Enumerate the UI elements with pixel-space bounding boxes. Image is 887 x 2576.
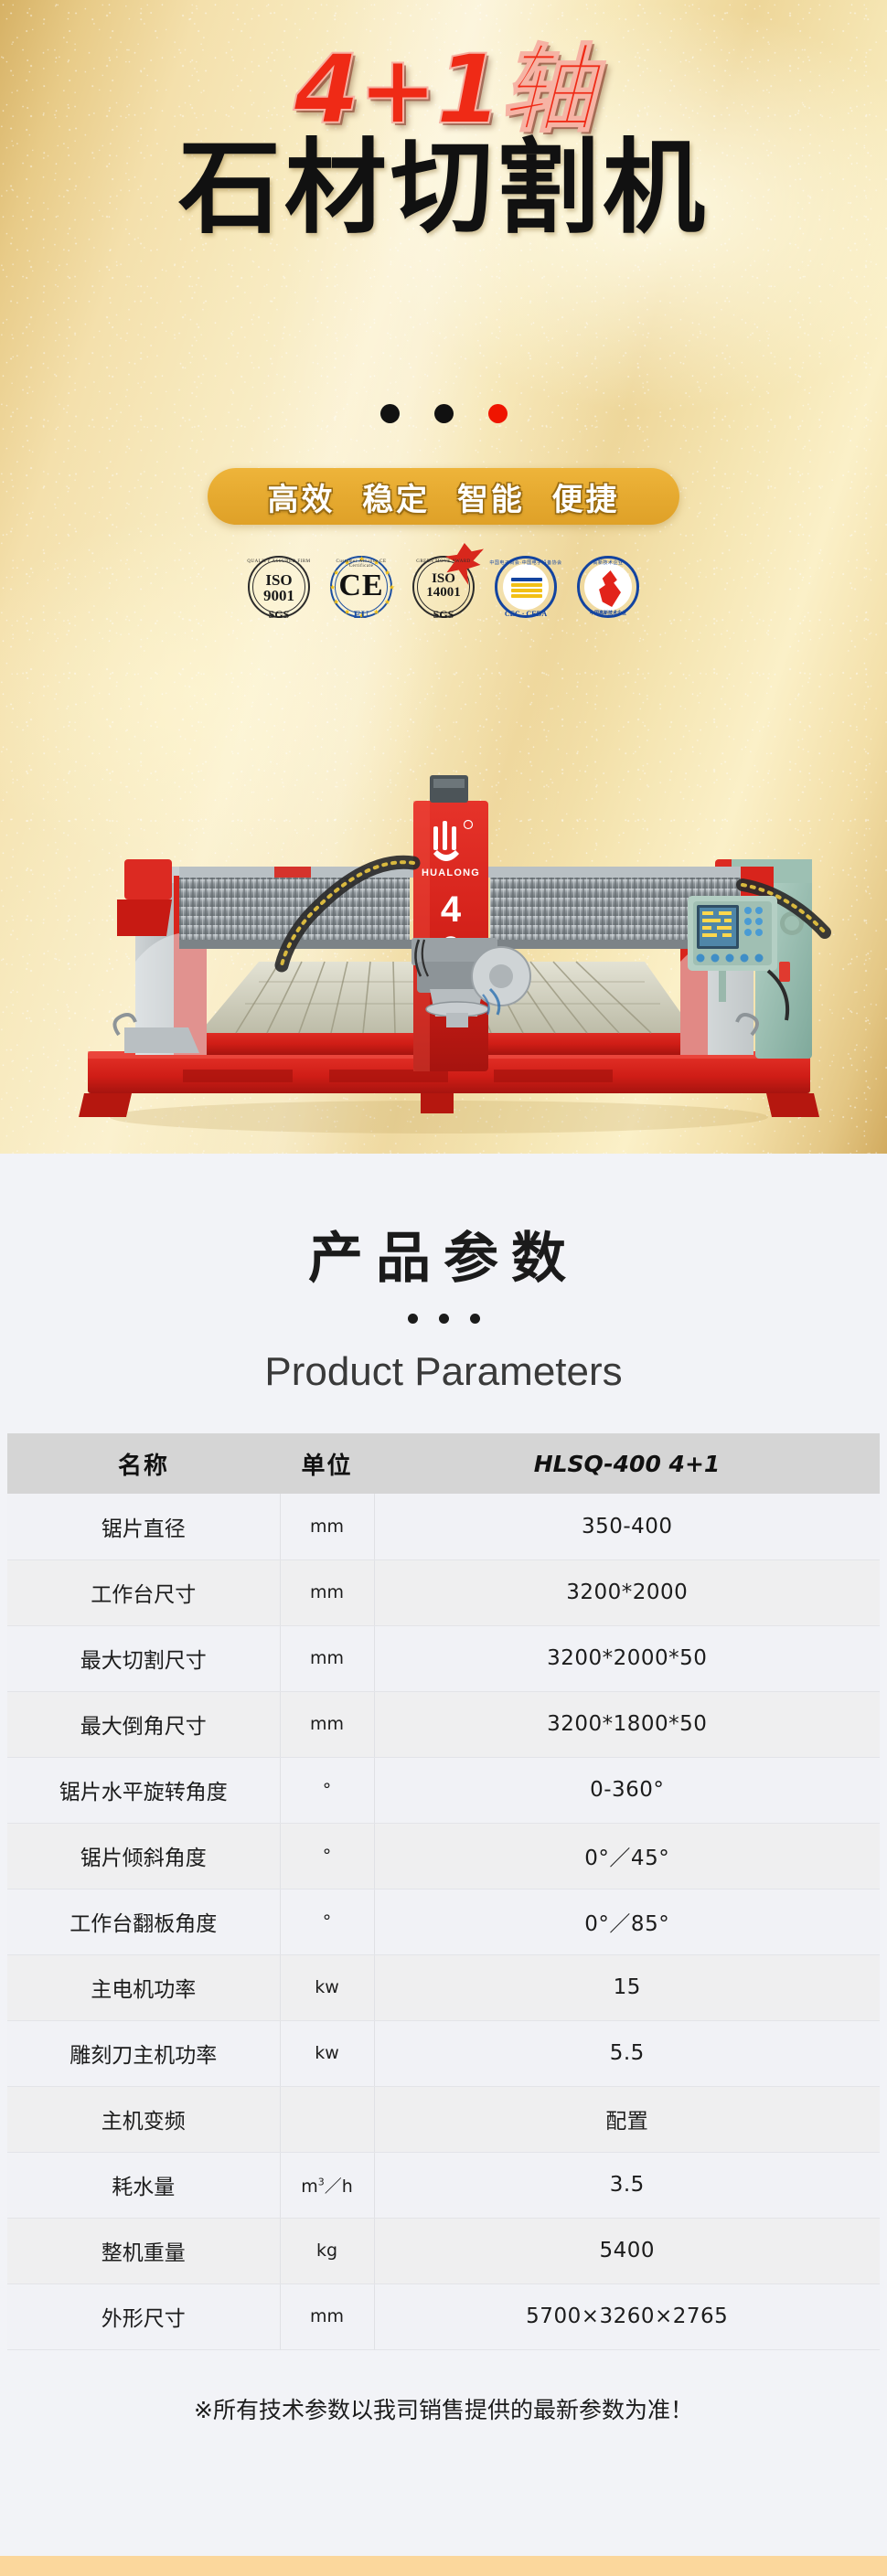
table-row: 主电机功率kw15 bbox=[7, 1954, 880, 2020]
badge-top-text: GREEN MOVE AWARD bbox=[407, 559, 480, 564]
section-dot-separator bbox=[0, 1314, 887, 1324]
page-title: 石材切割机 bbox=[0, 137, 887, 240]
ce-badge: ★★ ★★ ★★ ★★ ★★ ★★ Customer Alliance CE C… bbox=[325, 550, 398, 623]
badge-main-line1: ISO bbox=[265, 571, 292, 589]
badge-main-line2: 9001 bbox=[263, 587, 294, 604]
cell-parameter-name: 雕刻刀主机功率 bbox=[7, 2020, 280, 2086]
machine-illustration: HUALONG 4 0 0 bbox=[0, 687, 887, 1154]
machine-model-digit-1: 4 bbox=[441, 889, 462, 930]
cell-unit: ° bbox=[280, 1757, 374, 1823]
cell-parameter-name: 整机重量 bbox=[7, 2218, 280, 2283]
cell-parameter-name: 锯片直径 bbox=[7, 1494, 280, 1559]
cell-value: 3.5 bbox=[374, 2152, 880, 2218]
cell-value: 5400 bbox=[374, 2218, 880, 2283]
iso-9001-badge: QUALITY ASSURED FIRM ISO 9001 SGS bbox=[242, 550, 315, 623]
cell-parameter-name: 工作台尺寸 bbox=[7, 1559, 280, 1625]
cell-parameter-name: 外形尺寸 bbox=[7, 2283, 280, 2349]
cell-value: 5700×3260×2765 bbox=[374, 2283, 880, 2349]
iso-14001-badge: GREEN MOVE AWARD ISO 14001 SGS bbox=[407, 550, 480, 623]
badge-main-line2: 14001 bbox=[426, 585, 461, 600]
cell-unit: ° bbox=[280, 1823, 374, 1889]
column-header-unit: 单位 bbox=[280, 1433, 374, 1494]
table-body: 锯片直径mm350-400工作台尺寸mm3200*2000最大切割尺寸mm320… bbox=[7, 1494, 880, 2349]
badge-top-text: QUALITY ASSURED FIRM bbox=[242, 559, 315, 564]
section-title: 产品参数 bbox=[0, 1154, 887, 1286]
dot-1 bbox=[380, 404, 400, 423]
cell-value: 配置 bbox=[374, 2086, 880, 2152]
cell-value: 0°／45° bbox=[374, 1823, 880, 1889]
cell-parameter-name: 主电机功率 bbox=[7, 1954, 280, 2020]
table-row: 最大倒角尺寸mm3200*1800*50 bbox=[7, 1691, 880, 1757]
cell-unit: mm bbox=[280, 1625, 374, 1691]
parameters-table: 名称 单位 HLSQ-400 4+1 锯片直径mm350-400工作台尺寸mm3… bbox=[7, 1433, 880, 2350]
badge-top-text: 中国电子商会·中国电子设备协会 bbox=[489, 559, 562, 566]
hero-dot-separator bbox=[0, 404, 887, 423]
machine-product-photo: HUALONG 4 0 0 bbox=[0, 687, 887, 1154]
table-row: 工作台尺寸mm3200*2000 bbox=[7, 1559, 880, 1625]
cell-parameter-name: 锯片倾斜角度 bbox=[7, 1823, 280, 1889]
cell-unit: mm bbox=[280, 2283, 374, 2349]
cell-unit: m3／h bbox=[280, 2152, 374, 2218]
cell-parameter-name: 最大倒角尺寸 bbox=[7, 1691, 280, 1757]
table-row: 最大切割尺寸mm3200*2000*50 bbox=[7, 1625, 880, 1691]
cell-parameter-name: 主机变频 bbox=[7, 2086, 280, 2152]
feature-pill-badge: 高效 稳定 智能 便捷 bbox=[208, 468, 679, 525]
certification-badge-row: QUALITY ASSURED FIRM ISO 9001 SGS ★★ ★★ … bbox=[0, 550, 887, 623]
table-row: 工作台翻板角度°0°／85° bbox=[7, 1889, 880, 1954]
cell-value: 0°／85° bbox=[374, 1889, 880, 1954]
bottom-accent-strip bbox=[0, 2556, 887, 2576]
section-dot-1 bbox=[408, 1314, 418, 1324]
badge-bottom-text: 中国高新技术企业 bbox=[572, 610, 645, 616]
badge-top-text: 高新技术企业 bbox=[572, 559, 645, 566]
cell-unit: mm bbox=[280, 1559, 374, 1625]
cell-unit: kw bbox=[280, 1954, 374, 2020]
badge-bottom-text: EU bbox=[325, 608, 398, 622]
dot-2 bbox=[434, 404, 454, 423]
badge-bottom-text: SGS bbox=[242, 608, 315, 622]
feature-pill-label: 高效 稳定 智能 便捷 bbox=[267, 474, 619, 519]
cell-value: 0-360° bbox=[374, 1757, 880, 1823]
cec-emblem-icon bbox=[511, 578, 542, 596]
cell-value: 3200*2000 bbox=[374, 1559, 880, 1625]
table-row: 锯片水平旋转角度°0-360° bbox=[7, 1757, 880, 1823]
section-subtitle: Product Parameters bbox=[0, 1349, 887, 1395]
cell-unit: ° bbox=[280, 1889, 374, 1954]
disclaimer-note: ※所有技术参数以我司销售提供的最新参数为准！ bbox=[0, 2392, 887, 2425]
cell-unit bbox=[280, 2086, 374, 2152]
table-row: 外形尺寸mm5700×3260×2765 bbox=[7, 2283, 880, 2349]
badge-bottom-text: CEC · CEDA bbox=[489, 610, 562, 618]
cell-unit: mm bbox=[280, 1494, 374, 1559]
badge-main-text: ISO 14001 bbox=[407, 572, 480, 601]
cell-value: 15 bbox=[374, 1954, 880, 2020]
table-row: 主机变频配置 bbox=[7, 2086, 880, 2152]
dot-3-accent bbox=[488, 404, 508, 423]
badge-main-text: CE bbox=[325, 570, 398, 601]
cell-parameter-name: 耗水量 bbox=[7, 2152, 280, 2218]
cell-unit: mm bbox=[280, 1691, 374, 1757]
table-row: 耗水量m3／h3.5 bbox=[7, 2152, 880, 2218]
table-header-row: 名称 单位 HLSQ-400 4+1 bbox=[7, 1433, 880, 1494]
badge-top-text: Customer Alliance CE Certificate bbox=[325, 559, 398, 569]
table-row: 雕刻刀主机功率kw5.5 bbox=[7, 2020, 880, 2086]
product-parameters-section: 产品参数 Product Parameters 名称 单位 HLSQ-400 4… bbox=[0, 1154, 887, 2556]
cell-parameter-name: 最大切割尺寸 bbox=[7, 1625, 280, 1691]
column-header-model: HLSQ-400 4+1 bbox=[374, 1433, 880, 1494]
cec-ceda-badge: 中国电子商会·中国电子设备协会 CEC · CEDA bbox=[489, 550, 562, 623]
column-header-name: 名称 bbox=[7, 1433, 280, 1494]
cell-value: 350-400 bbox=[374, 1494, 880, 1559]
cell-unit: kw bbox=[280, 2020, 374, 2086]
hero-kicker: 4+1轴 bbox=[0, 42, 887, 137]
cell-value: 5.5 bbox=[374, 2020, 880, 2086]
cell-value: 3200*1800*50 bbox=[374, 1691, 880, 1757]
badge-main-line1: ISO bbox=[432, 571, 455, 586]
section-dot-3 bbox=[470, 1314, 480, 1324]
table-row: 整机重量kg5400 bbox=[7, 2218, 880, 2283]
section-dot-2 bbox=[439, 1314, 449, 1324]
table-row: 锯片倾斜角度°0°／45° bbox=[7, 1823, 880, 1889]
cell-value: 3200*2000*50 bbox=[374, 1625, 880, 1691]
cell-parameter-name: 工作台翻板角度 bbox=[7, 1889, 280, 1954]
machine-brand-text: HUALONG bbox=[422, 868, 480, 878]
badge-bottom-text: SGS bbox=[407, 608, 480, 622]
technology-flame-badge: 高新技术企业 中国高新技术企业 bbox=[572, 550, 645, 623]
cell-parameter-name: 锯片水平旋转角度 bbox=[7, 1757, 280, 1823]
table-row: 锯片直径mm350-400 bbox=[7, 1494, 880, 1559]
badge-main-text: ISO 9001 bbox=[242, 572, 315, 604]
hero-banner: 4+1轴 石材切割机 高效 稳定 智能 便捷 QUALITY ASSURED F… bbox=[0, 0, 887, 1154]
cell-unit: kg bbox=[280, 2218, 374, 2283]
